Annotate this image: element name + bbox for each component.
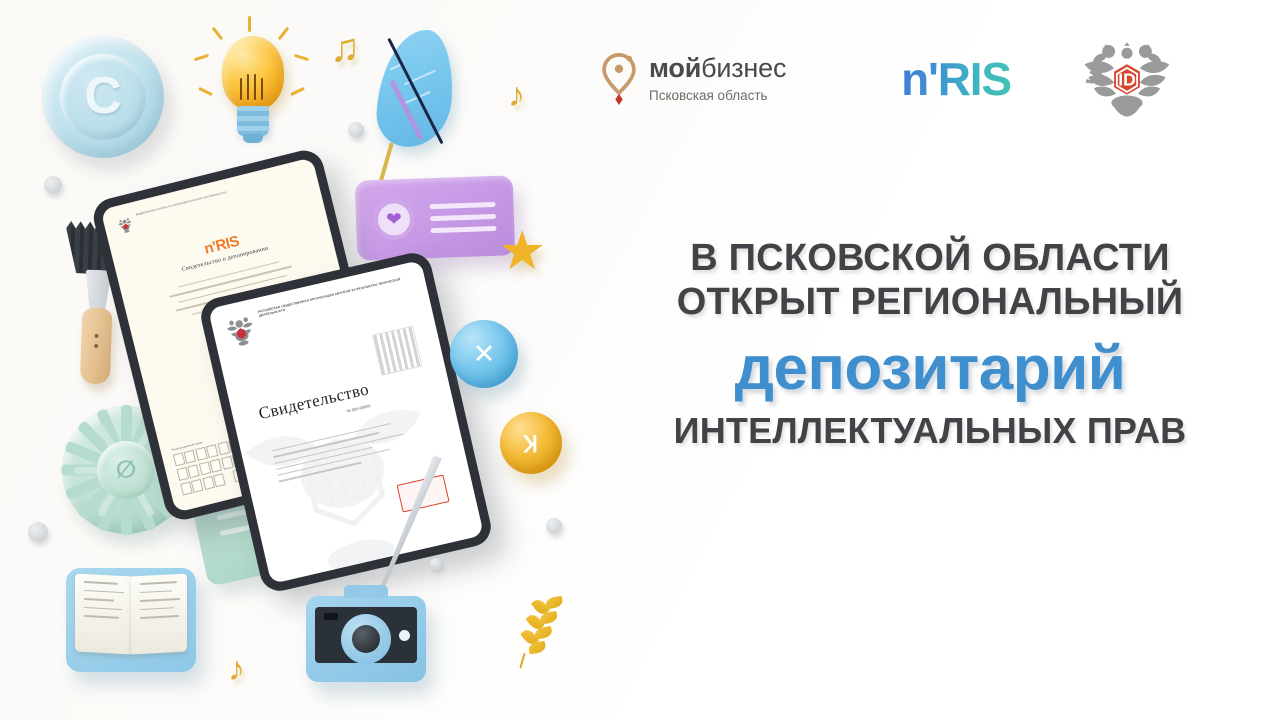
my-business-text: мойбизнес Псковская область	[649, 55, 786, 103]
headline-line-2: ОТКРЫТ РЕГИОНАЛЬНЫЙ	[600, 280, 1260, 324]
my-business-subtitle: Псковская область	[649, 88, 786, 103]
book-page-right	[131, 574, 187, 655]
camera-indicator	[399, 630, 410, 641]
logo-rospatent: ID	[1062, 33, 1192, 125]
pebble-decor	[546, 518, 562, 534]
brush-handle	[80, 307, 113, 384]
sphere-gold: Ʞ	[500, 412, 562, 474]
my-business-title: мойбизнес	[649, 55, 786, 82]
book-page-left	[75, 574, 131, 655]
my-business-title-bold: мой	[649, 53, 701, 83]
pebble-decor	[430, 558, 442, 570]
my-business-title-regular: бизнес	[701, 53, 786, 83]
headline-accent: депозитарий	[600, 334, 1260, 403]
camera-viewfinder	[344, 585, 388, 598]
logo-my-business: мойбизнес Псковская область	[600, 53, 850, 105]
pebble-decor	[44, 176, 62, 194]
music-note-single-icon: ♪	[508, 78, 525, 112]
headline-line-1: В ПСКОВСКОЙ ОБЛАСТИ	[600, 236, 1260, 280]
heart-icon: ❤	[386, 210, 403, 230]
pebble-decor	[348, 122, 364, 138]
rospatent-badge-text: ID	[1118, 69, 1135, 89]
headline-line-3: ИНТЕЛЛЕКТУАЛЬНЫХ ПРАВ	[600, 410, 1260, 452]
copyright-badge: C	[42, 36, 164, 158]
nris-wordmark: n'RIS	[901, 56, 1011, 102]
camera-lens	[341, 614, 391, 664]
lightbulb-filament	[236, 72, 270, 100]
book-pages	[75, 575, 187, 653]
heart-icon-ring: ❤	[373, 199, 414, 240]
logo-row: мойбизнес Псковская область n'RIS	[600, 34, 1240, 124]
lightbulb-cap	[237, 106, 269, 136]
open-book-icon	[66, 568, 196, 672]
media-card-lines	[430, 202, 497, 233]
certificate-org-text: ФЕДЕРАЛЬНАЯ СЛУЖБА ПО ИНТЕЛЛЕКТУАЛЬНОЙ С…	[135, 191, 226, 217]
illustration-area: C ♫ ♪ ♪	[0, 0, 620, 720]
copyright-glyph: C	[84, 70, 122, 122]
poster-canvas: C ♫ ♪ ♪	[0, 0, 1280, 720]
camera-icon	[306, 596, 426, 682]
lightbulb-tip	[243, 134, 263, 143]
media-card: ❤	[355, 175, 516, 260]
pebble-decor	[28, 522, 48, 542]
music-note-double-icon: ♫	[330, 28, 360, 68]
camera-flash	[324, 613, 338, 620]
logo-nris: n'RIS	[850, 56, 1062, 102]
star-icon: ★	[498, 224, 552, 278]
eagle-emblem-small	[116, 215, 135, 235]
location-pin-icon	[600, 53, 638, 105]
feather-nib	[379, 142, 394, 182]
feather-quill-icon	[360, 19, 476, 181]
headline-block: В ПСКОВСКОЙ ОБЛАСТИ ОТКРЫТ РЕГИОНАЛЬНЫЙ …	[600, 236, 1260, 451]
film-reel-glyph: ∅	[116, 456, 137, 485]
wheat-stem	[519, 653, 525, 669]
wheat-sprig-icon	[514, 591, 579, 675]
eagle-emblem	[222, 311, 258, 349]
double-headed-eagle-emblem: ID	[1081, 33, 1173, 125]
sphere-blue: ✕	[450, 320, 518, 388]
lightbulb-icon	[196, 30, 306, 155]
music-note-bottom-icon: ♪	[228, 652, 245, 686]
